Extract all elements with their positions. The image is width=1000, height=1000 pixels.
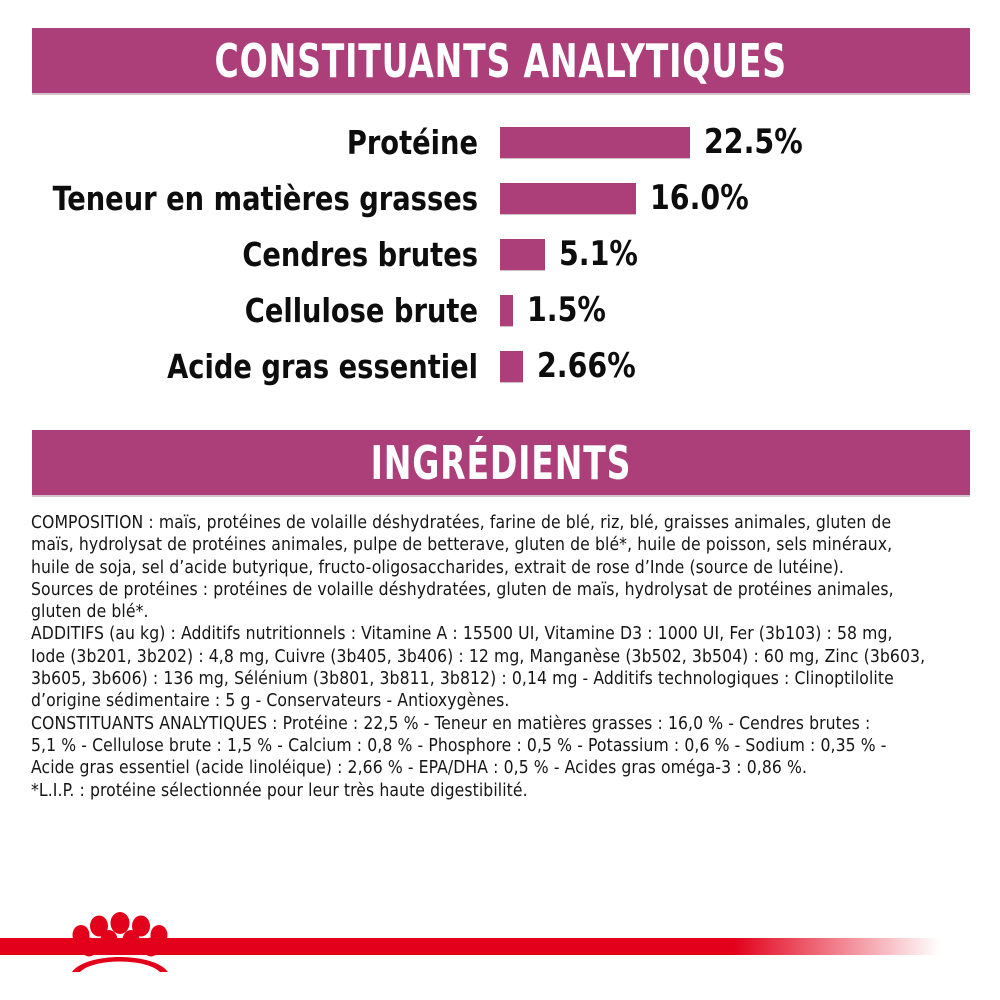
ingredients-paragraph: CONSTITUANTS ANALYTIQUES : Protéine : 22… [31,713,975,780]
ingredients-title: INGRÉDIENTS [371,436,632,490]
ingredients-paragraph: Sources de protéines : protéines de vola… [31,579,975,624]
chart-bar [500,183,636,214]
chart-bar-value: 5.1% [559,237,638,271]
chart-row-label: Cellulose brute [38,294,478,327]
ingredients-paragraph: ADDITIFS (au kg) : Additifs nutritionnel… [31,623,975,712]
chart-row-bar-group: 2.66% [500,349,643,383]
ingredients-paragraph: COMPOSITION : maïs, protéines de volaill… [31,512,975,579]
analytical-constituents-banner: CONSTITUANTS ANALYTIQUES [32,28,970,93]
chart-row: Protéine22.5% [0,120,1000,164]
chart-row-label: Teneur en matières grasses [38,182,478,215]
chart-bar-value: 22.5% [704,125,803,159]
chart-bar [500,239,545,270]
ingredients-banner: INGRÉDIENTS [32,430,970,495]
chart-bar-value: 16.0% [650,181,749,215]
chart-row: Acide gras essentiel2.66% [0,344,1000,388]
chart-row-label: Cendres brutes [38,238,478,271]
chart-row-bar-group: 22.5% [500,125,810,159]
analytical-constituents-title: CONSTITUANTS ANALYTIQUES [215,34,787,88]
chart-row-bar-group: 16.0% [500,181,756,215]
chart-row: Cellulose brute1.5% [0,288,1000,332]
ingredients-body-text: COMPOSITION : maïs, protéines de volaill… [31,512,975,802]
chart-bar [500,351,523,382]
chart-row-bar-group: 5.1% [500,237,644,271]
chart-bar-value: 2.66% [537,349,636,383]
chart-bar-value: 1.5% [527,293,606,327]
royal-canin-crown-logo [68,912,172,974]
chart-bar [500,127,690,158]
ingredients-paragraph: *L.I.P. : protéine sélectionnée pour leu… [31,780,975,802]
chart-row-bar-group: 1.5% [500,293,612,327]
chart-row-label: Protéine [38,126,478,159]
chart-bar [500,295,513,326]
chart-row: Teneur en matières grasses16.0% [0,176,1000,220]
chart-row-label: Acide gras essentiel [38,350,478,383]
chart-row: Cendres brutes5.1% [0,232,1000,276]
analytical-constituents-chart: Protéine22.5%Teneur en matières grasses1… [0,120,1000,405]
footer [0,900,1000,1000]
